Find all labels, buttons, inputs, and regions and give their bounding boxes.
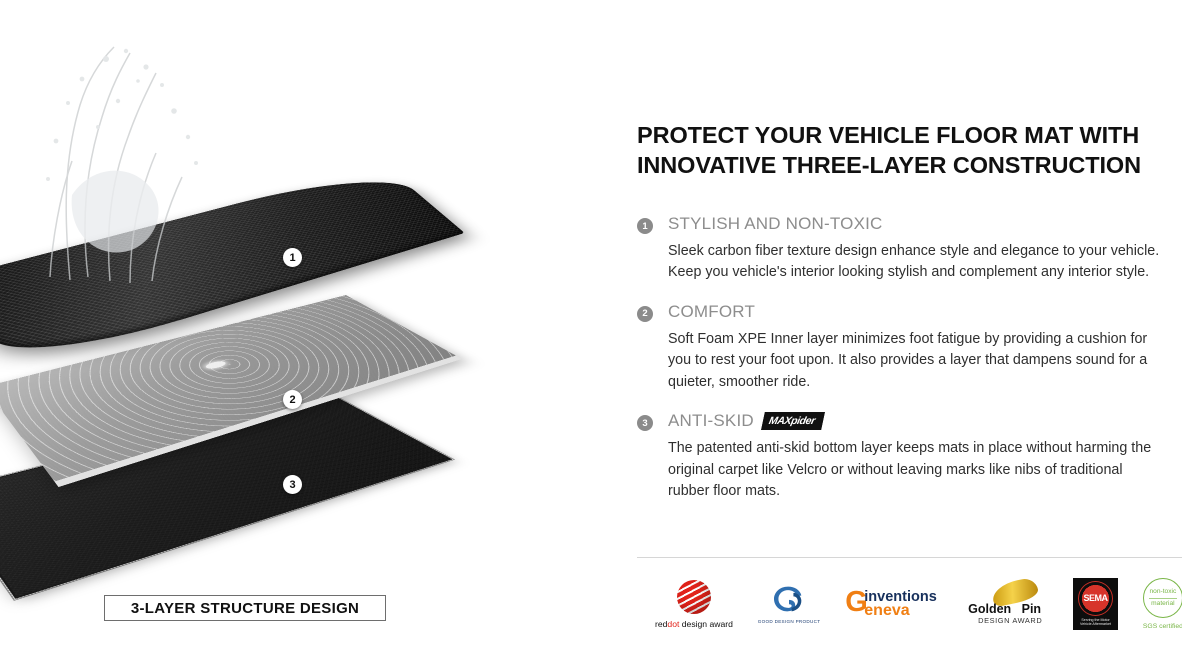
exploded-layer-stage: 1 2 3 bbox=[0, 20, 620, 580]
good-design-swirl-icon bbox=[771, 584, 807, 614]
reddot-word-rest: design award bbox=[679, 619, 733, 629]
badges-divider bbox=[637, 557, 1182, 558]
reddot-word-dot: dot bbox=[667, 619, 679, 629]
feature-title-text-2: COMFORT bbox=[668, 302, 755, 322]
inventions-geneva-logo: G inventions eneva bbox=[845, 587, 943, 621]
copy-pane: PROTECT YOUR VEHICLE FLOOR MAT WITH INNO… bbox=[637, 0, 1182, 665]
golden-pin-pin: Pin bbox=[1022, 602, 1041, 616]
feature-item-comfort: 2 COMFORT Soft Foam XPE Inner layer mini… bbox=[637, 302, 1167, 393]
badge-inventions-geneva: G inventions eneva bbox=[845, 587, 943, 621]
feature-item-anti-skid: 3 ANTI-SKID MAXpider The patented anti-s… bbox=[637, 411, 1167, 502]
sema-logo: SEMA Serving the Motor Vehicle Aftermark… bbox=[1073, 578, 1118, 630]
sema-seal-icon: SEMA bbox=[1078, 581, 1113, 616]
product-marker-1: 1 bbox=[283, 248, 302, 267]
structure-caption-text: 3-LAYER STRUCTURE DESIGN bbox=[131, 600, 359, 617]
non-toxic-circle-icon: non-toxic material bbox=[1143, 578, 1182, 618]
golden-pin-wordmark: Golden Pin bbox=[968, 602, 1041, 616]
non-toxic-line1: non-toxic bbox=[1149, 587, 1178, 599]
feature-bullet-2: 2 bbox=[637, 306, 653, 322]
reddot-word-red: red bbox=[655, 619, 667, 629]
feature-bullet-3: 3 bbox=[637, 415, 653, 431]
feature-title-3: ANTI-SKID MAXpider bbox=[668, 411, 1167, 431]
maxpider-logo-pider: pider bbox=[790, 415, 816, 427]
badge-golden-pin-design-award: Golden Pin DESIGN AWARD bbox=[968, 581, 1048, 627]
non-toxic-line2: material bbox=[1151, 599, 1174, 609]
reddot-label: reddot design award bbox=[655, 619, 733, 629]
golden-pin-logo: Golden Pin DESIGN AWARD bbox=[968, 581, 1048, 627]
infographic-page: 1 2 3 3-LAYER STRUCTURE DESIGN PROTECT Y… bbox=[0, 0, 1182, 665]
sema-sub-label: Serving the Motor Vehicle Aftermarket bbox=[1076, 618, 1115, 627]
maxpider-brand-logo: MAXpider bbox=[761, 412, 825, 430]
product-marker-3: 3 bbox=[283, 475, 302, 494]
reddot-sphere-icon bbox=[677, 580, 711, 614]
badge-reddot-design-award: reddot design award bbox=[655, 580, 733, 629]
badge-good-design-product: GOOD DESIGN PRODUCT bbox=[758, 584, 821, 624]
badge-sema: SEMA Serving the Motor Vehicle Aftermark… bbox=[1073, 578, 1118, 630]
golden-pin-golden: Golden bbox=[968, 602, 1011, 616]
structure-caption-box: 3-LAYER STRUCTURE DESIGN bbox=[104, 595, 386, 621]
good-design-label: GOOD DESIGN PRODUCT bbox=[758, 619, 821, 624]
page-headline: PROTECT YOUR VEHICLE FLOOR MAT WITH INNO… bbox=[637, 120, 1172, 181]
feature-bullet-1: 1 bbox=[637, 218, 653, 234]
feature-title-1: STYLISH AND NON-TOXIC bbox=[668, 214, 1167, 234]
feature-title-2: COMFORT bbox=[668, 302, 1167, 322]
golden-pin-sub: DESIGN AWARD bbox=[978, 616, 1042, 625]
feature-title-text-3: ANTI-SKID bbox=[668, 411, 754, 431]
feature-item-stylish: 1 STYLISH AND NON-TOXIC Sleek carbon fib… bbox=[637, 214, 1167, 284]
feature-title-text-1: STYLISH AND NON-TOXIC bbox=[668, 214, 883, 234]
product-marker-2: 2 bbox=[283, 390, 302, 409]
feature-body-1: Sleek carbon fiber texture design enhanc… bbox=[668, 241, 1167, 284]
feature-list: 1 STYLISH AND NON-TOXIC Sleek carbon fib… bbox=[637, 214, 1167, 503]
feature-body-3: The patented anti-skid bottom layer keep… bbox=[668, 438, 1167, 502]
award-badge-row: reddot design award GOOD DESIGN PRODUCT … bbox=[655, 570, 1182, 638]
product-image-pane: 1 2 3 3-LAYER STRUCTURE DESIGN bbox=[0, 0, 620, 665]
badge-non-toxic-sgs: non-toxic material SGS certified bbox=[1143, 578, 1182, 630]
geneva-eneva-text: eneva bbox=[864, 603, 909, 619]
sgs-certified-label: SGS certified bbox=[1143, 623, 1182, 630]
maxpider-logo-max: MAX bbox=[768, 415, 793, 427]
feature-body-2: Soft Foam XPE Inner layer minimizes foot… bbox=[668, 329, 1167, 393]
